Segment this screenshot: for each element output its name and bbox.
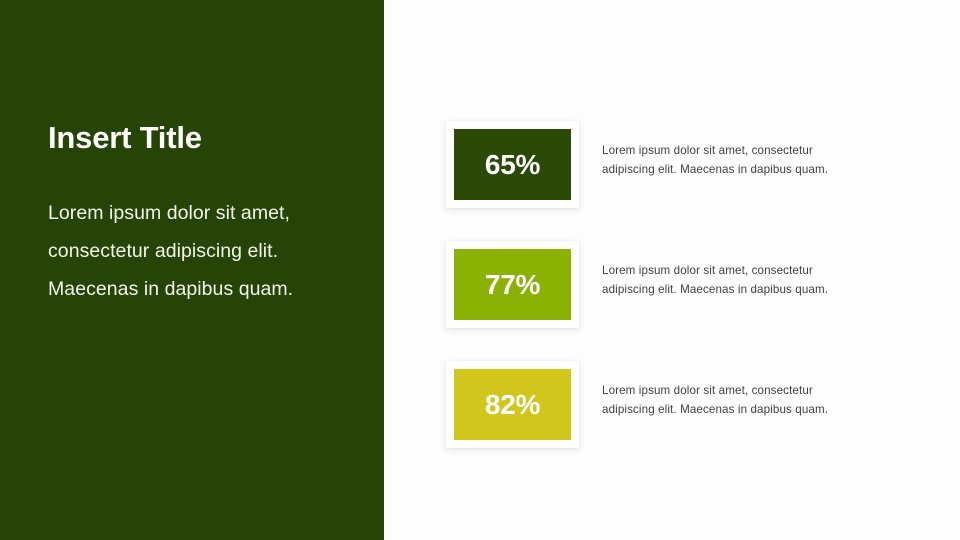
stat-row: 65% Lorem ipsum dolor sit amet, consecte… [446, 121, 906, 208]
stat-value-2: 77% [485, 271, 540, 299]
left-panel-content: Insert Title Lorem ipsum dolor sit amet,… [48, 120, 310, 308]
stat-card-1[interactable]: 65% [446, 121, 579, 208]
stat-value-1: 65% [485, 151, 540, 179]
stat-row: 77% Lorem ipsum dolor sit amet, consecte… [446, 241, 906, 328]
stat-card-2[interactable]: 77% [446, 241, 579, 328]
page-title: Insert Title [48, 120, 310, 156]
stat-value-3: 82% [485, 391, 540, 419]
slide-canvas: Insert Title Lorem ipsum dolor sit amet,… [0, 0, 960, 540]
stat-description-1: Lorem ipsum dolor sit amet, consectetur … [602, 142, 838, 179]
left-panel: Insert Title Lorem ipsum dolor sit amet,… [0, 0, 384, 540]
right-panel: 65% Lorem ipsum dolor sit amet, consecte… [384, 0, 960, 540]
stat-chip-2: 77% [454, 249, 571, 320]
stat-description-3: Lorem ipsum dolor sit amet, consectetur … [602, 382, 838, 419]
stat-list: 65% Lorem ipsum dolor sit amet, consecte… [446, 121, 906, 448]
stat-description-2: Lorem ipsum dolor sit amet, consectetur … [602, 262, 838, 299]
stat-chip-3: 82% [454, 369, 571, 440]
stat-card-3[interactable]: 82% [446, 361, 579, 448]
stat-row: 82% Lorem ipsum dolor sit amet, consecte… [446, 361, 906, 448]
stat-chip-1: 65% [454, 129, 571, 200]
left-panel-body-text: Lorem ipsum dolor sit amet, consectetur … [48, 194, 310, 308]
